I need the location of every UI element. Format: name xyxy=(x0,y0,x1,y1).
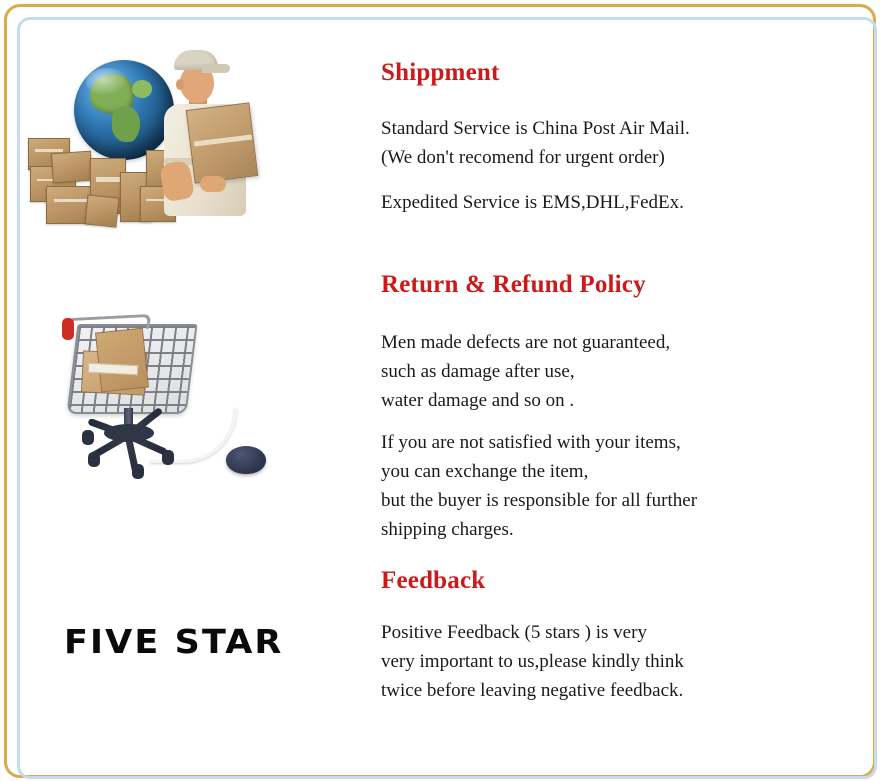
feedback-heading: Feedback xyxy=(381,566,485,595)
shipment-paragraph-expedited-service: Expedited Service is EMS,DHL,FedEx. xyxy=(381,188,684,217)
text-line: twice before leaving negative feedback. xyxy=(381,676,684,705)
return-refund-heading: Return & Refund Policy xyxy=(381,270,646,299)
text-line: but the buyer is responsible for all fur… xyxy=(381,486,697,515)
chair-caster-wheel xyxy=(132,464,144,479)
text-line: (We don't recomend for urgent order) xyxy=(381,143,690,172)
five-star-wordmark: FIVE STAR xyxy=(64,622,276,662)
text-line: Men made defects are not guaranteed, xyxy=(381,328,670,357)
delivery-man-cap-brim xyxy=(202,64,230,73)
globe-landmass-south xyxy=(112,106,140,142)
delivery-man-figure xyxy=(144,46,256,231)
return-refund-paragraph-defects: Men made defects are not guaranteed, suc… xyxy=(381,328,670,415)
text-line: water damage and so on . xyxy=(381,386,670,415)
chair-caster-wheel xyxy=(82,430,94,445)
chair-caster-wheel xyxy=(162,450,174,465)
cardboard-box xyxy=(85,194,120,227)
shipment-paragraph-standard-service: Standard Service is China Post Air Mail.… xyxy=(381,114,690,172)
feedback-paragraph: Positive Feedback (5 stars ) is very ver… xyxy=(381,618,684,705)
shopping-cart-with-mouse-illustration xyxy=(58,312,270,484)
text-line: such as damage after use, xyxy=(381,357,670,386)
chair-base-hub xyxy=(104,424,154,442)
delivery-man-hand xyxy=(200,176,226,192)
text-line: Expedited Service is EMS,DHL,FedEx. xyxy=(381,188,684,217)
text-line: very important to us,please kindly think xyxy=(381,647,684,676)
parcel-in-cart xyxy=(95,328,149,393)
delivery-man-globe-boxes-illustration xyxy=(28,46,256,231)
text-line: Positive Feedback (5 stars ) is very xyxy=(381,618,684,647)
policy-banner-content: Shippment Standard Service is China Post… xyxy=(0,0,880,782)
return-refund-paragraph-exchange: If you are not satisfied with your items… xyxy=(381,428,697,544)
text-line: you can exchange the item, xyxy=(381,457,697,486)
cardboard-box xyxy=(51,151,93,184)
delivery-man-ear xyxy=(176,79,184,90)
globe-highlight xyxy=(86,68,128,96)
text-line: shipping charges. xyxy=(381,515,697,544)
chair-caster-wheel xyxy=(88,452,100,467)
text-line: Standard Service is China Post Air Mail. xyxy=(381,114,690,143)
text-line: If you are not satisfied with your items… xyxy=(381,428,697,457)
computer-mouse-icon xyxy=(226,446,266,474)
shipment-heading: Shippment xyxy=(381,58,500,87)
shopping-cart-handle-grip xyxy=(62,318,74,340)
